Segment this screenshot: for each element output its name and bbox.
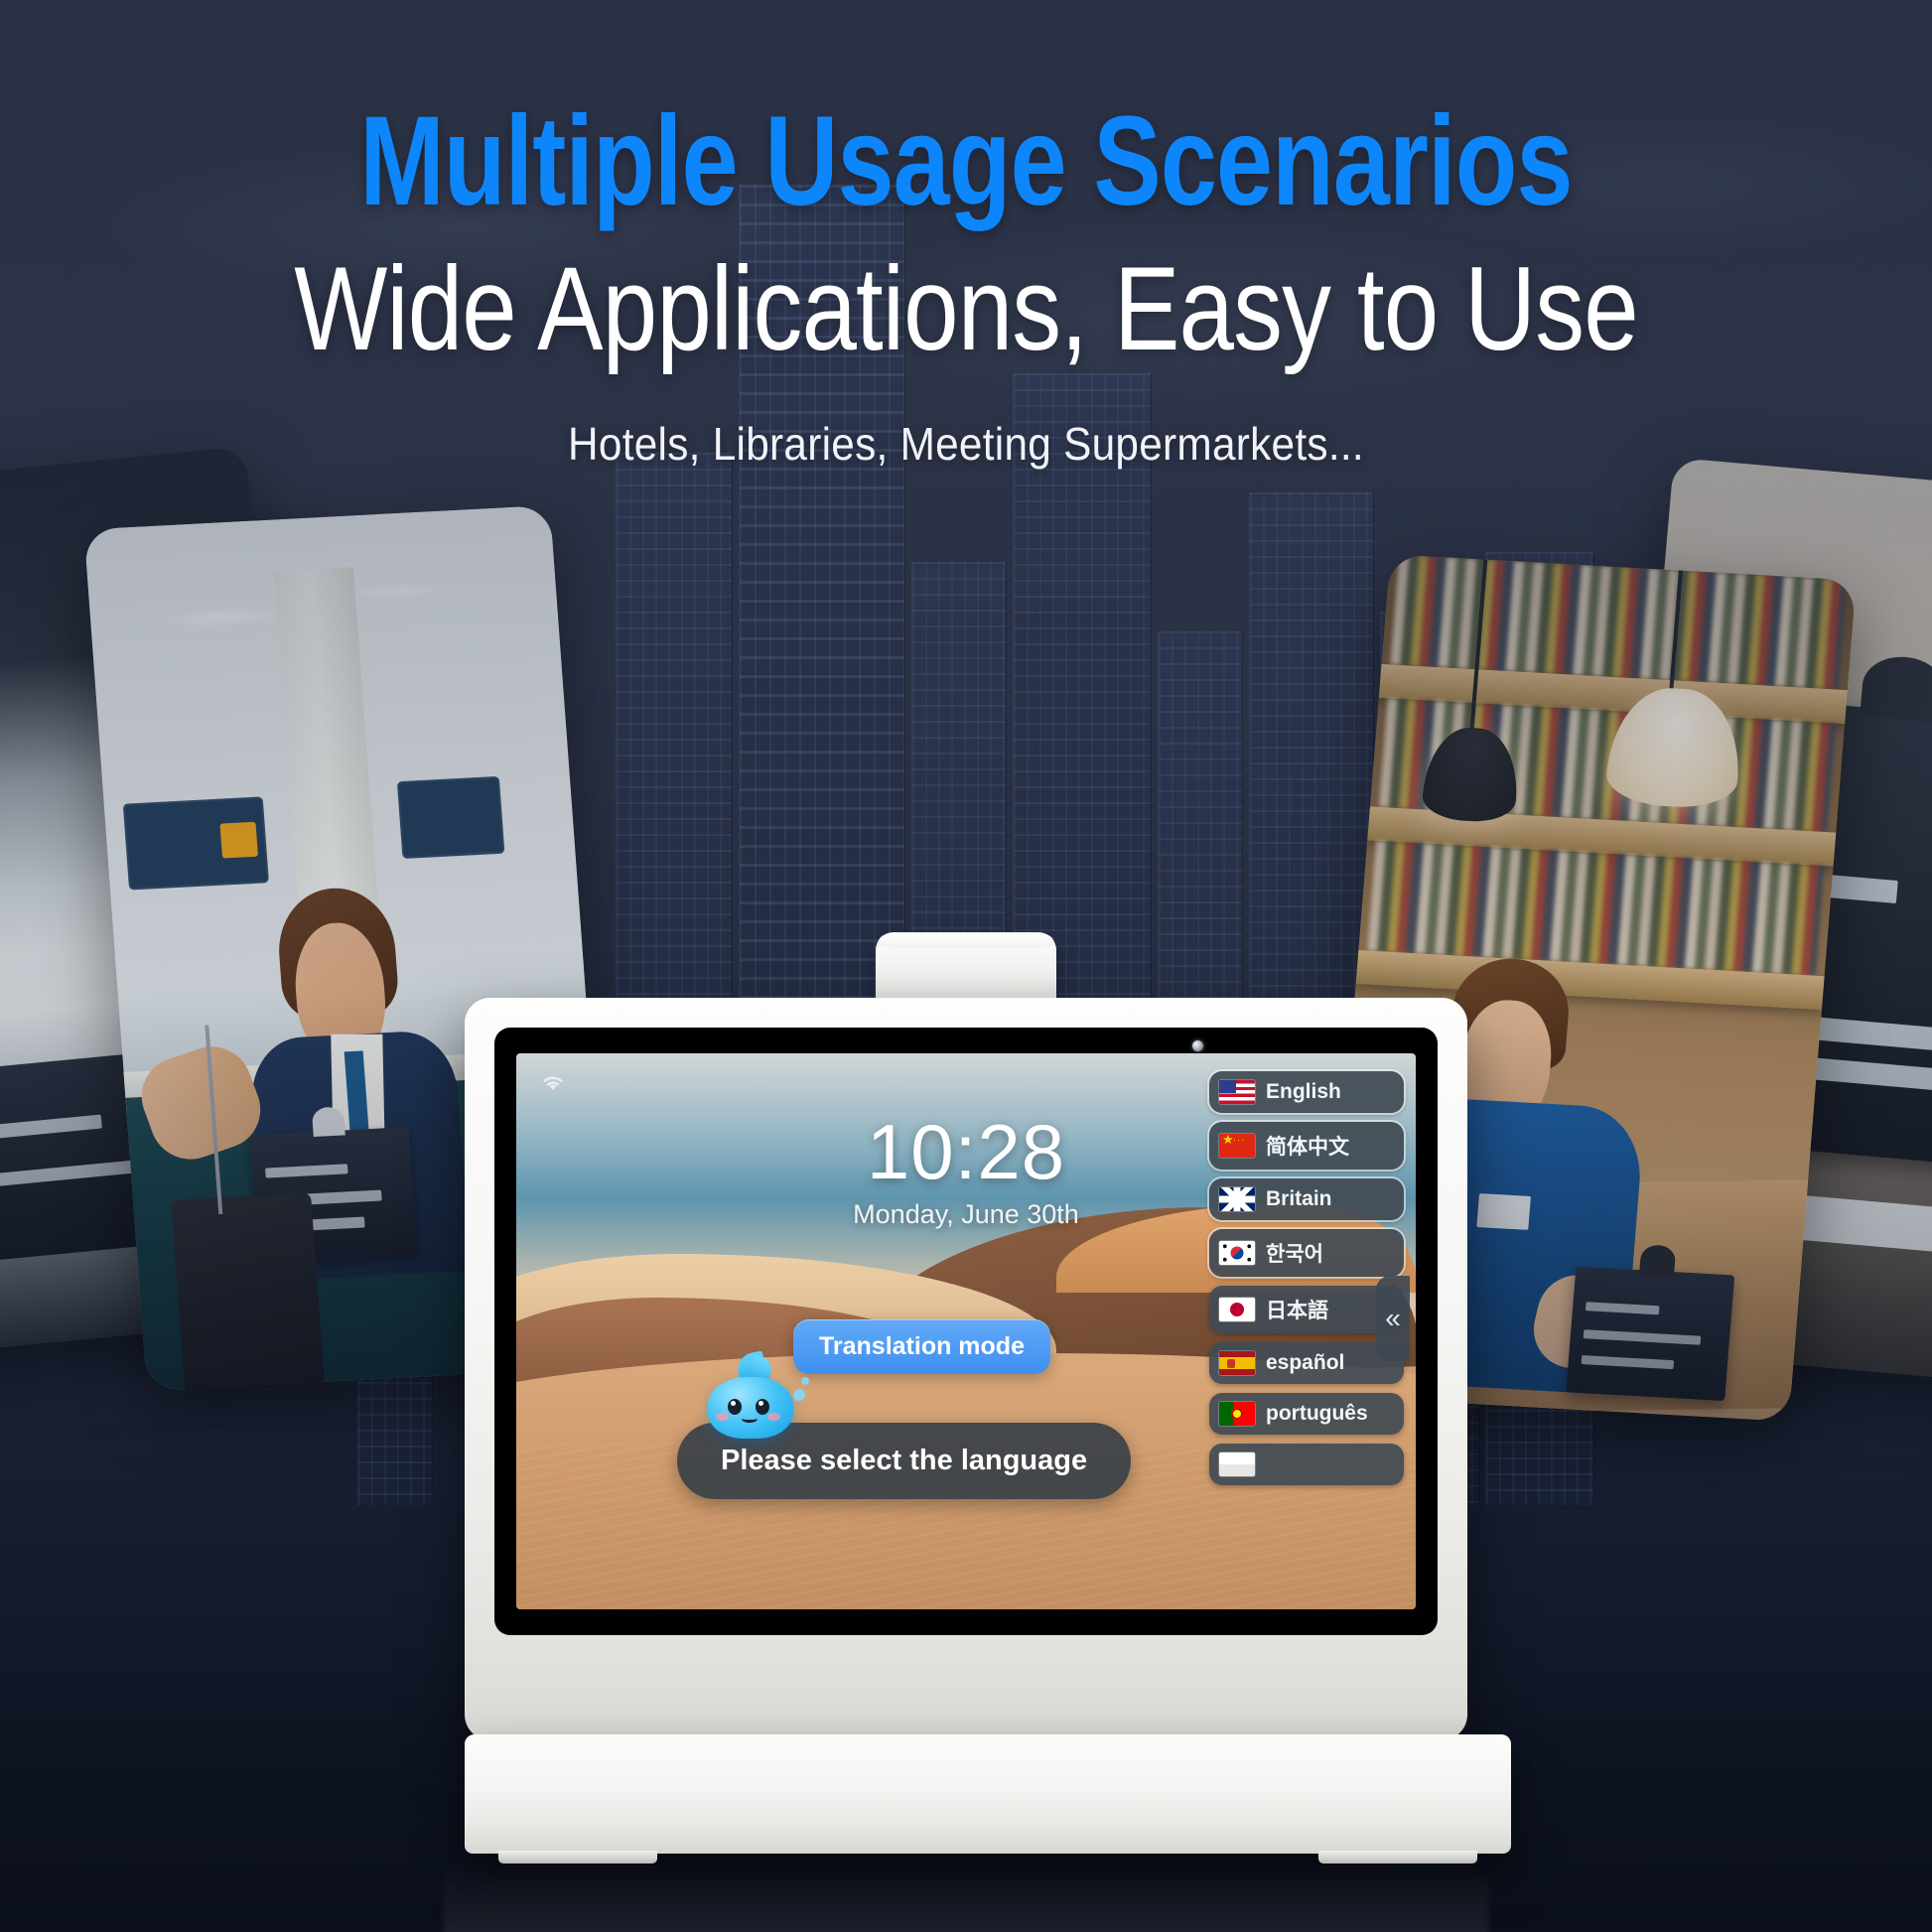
language-label: 한국어	[1266, 1238, 1323, 1268]
flag-us-icon	[1219, 1080, 1255, 1104]
language-label: português	[1266, 1402, 1368, 1426]
device-inner-bezel: 10:28 Monday, June 30th Translation mode	[494, 1028, 1438, 1635]
language-list[interactable]: English 简体中文 Britain 한국어	[1209, 1071, 1404, 1485]
device-reflection	[443, 1859, 1489, 1932]
base-foot-left	[498, 1851, 657, 1863]
language-label: español	[1266, 1351, 1344, 1375]
camera-dot-icon	[1192, 1040, 1203, 1051]
base-foot-right	[1318, 1851, 1477, 1863]
flag-gb-icon	[1219, 1187, 1255, 1211]
flag-jp-icon	[1219, 1298, 1255, 1321]
language-item-partial[interactable]	[1209, 1444, 1404, 1485]
wifi-icon	[538, 1069, 568, 1093]
device-chin	[494, 1635, 1438, 1740]
language-label: Britain	[1266, 1187, 1332, 1211]
hero-text-block: Multiple Usage Scenarios Wide Applicatio…	[0, 0, 1932, 471]
device-screen[interactable]: 10:28 Monday, June 30th Translation mode	[516, 1053, 1416, 1609]
language-label: 简体中文	[1266, 1131, 1349, 1161]
flag-pt-icon	[1219, 1402, 1255, 1426]
flag-es-icon	[1219, 1351, 1255, 1375]
language-item-english[interactable]: English	[1209, 1071, 1404, 1113]
page-headline: Multiple Usage Scenarios	[194, 95, 1739, 228]
mascot-blue-blob-icon	[702, 1351, 801, 1443]
language-item-spanish[interactable]: español	[1209, 1342, 1404, 1384]
collapse-panel-button[interactable]: «	[1376, 1276, 1410, 1361]
translator-device: 10:28 Monday, June 30th Translation mode	[465, 998, 1467, 1854]
flag-partial-icon	[1219, 1452, 1255, 1476]
poster-stage: Multiple Usage Scenarios Wide Applicatio…	[0, 0, 1932, 1932]
language-label: 日本語	[1266, 1295, 1328, 1324]
translation-mode-button[interactable]: Translation mode	[793, 1319, 1050, 1374]
device-base-stand	[465, 1734, 1511, 1854]
flag-kr-icon	[1219, 1241, 1255, 1265]
flag-cn-icon	[1219, 1134, 1255, 1158]
device-bezel: 10:28 Monday, June 30th Translation mode	[465, 998, 1467, 1740]
language-item-portuguese[interactable]: português	[1209, 1393, 1404, 1435]
language-item-korean[interactable]: 한국어	[1209, 1229, 1404, 1277]
language-label: English	[1266, 1080, 1341, 1104]
page-subheadline: Wide Applications, Easy to Use	[164, 246, 1767, 371]
language-item-japanese[interactable]: 日本語	[1209, 1286, 1404, 1333]
language-item-simplified-chinese[interactable]: 简体中文	[1209, 1122, 1404, 1170]
language-item-britain[interactable]: Britain	[1209, 1178, 1404, 1220]
page-tagline: Hotels, Libraries, Meeting Supermarkets.…	[77, 417, 1855, 471]
